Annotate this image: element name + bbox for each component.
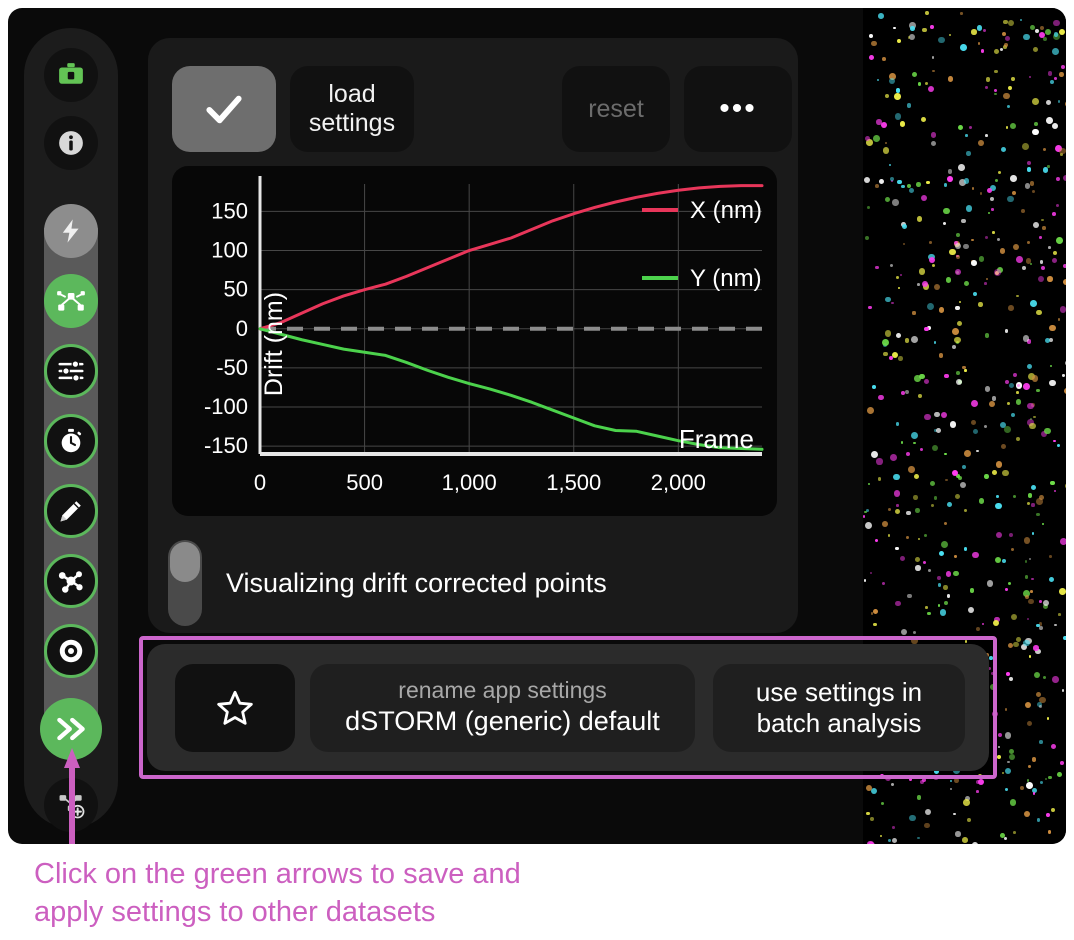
localization-point — [981, 49, 984, 52]
localization-point — [1051, 808, 1055, 812]
settings-panel-highlight — [139, 636, 997, 779]
localization-point — [894, 490, 900, 496]
localization-point — [985, 86, 988, 89]
localization-point — [1032, 129, 1038, 135]
localization-point — [1044, 428, 1051, 435]
localization-point — [870, 572, 872, 574]
localization-point — [882, 582, 885, 585]
localization-point — [961, 219, 966, 224]
localization-point — [1016, 295, 1019, 298]
localization-point — [883, 352, 888, 357]
chart-axes — [260, 176, 762, 454]
localization-point — [868, 306, 872, 310]
localization-point — [897, 180, 902, 185]
localization-point — [873, 623, 876, 626]
chart-x-tick-labels: 05001,0001,5002,000 — [254, 470, 706, 495]
localization-point — [1005, 329, 1008, 332]
localization-point — [968, 607, 974, 613]
localization-point — [916, 182, 921, 187]
localization-point — [949, 249, 956, 256]
localization-point — [938, 583, 941, 586]
localization-point — [1027, 403, 1033, 409]
localization-point — [880, 835, 882, 837]
sidebar-item-stopwatch[interactable] — [44, 414, 98, 468]
localization-point — [952, 328, 959, 335]
localization-point — [978, 42, 980, 44]
localization-point — [881, 122, 887, 128]
localization-point — [1048, 246, 1051, 249]
localization-point — [864, 511, 867, 514]
localization-point — [1052, 212, 1056, 216]
sidebar — [24, 28, 118, 828]
localization-point — [972, 842, 978, 844]
localization-point — [1029, 655, 1032, 658]
localization-point — [1057, 444, 1060, 447]
localization-point — [931, 504, 934, 507]
localization-point — [934, 284, 940, 290]
localization-point — [912, 311, 915, 314]
localization-point — [996, 532, 1002, 538]
localization-point — [932, 70, 934, 72]
localization-point — [876, 119, 881, 124]
localization-point — [931, 132, 937, 138]
localization-point — [964, 450, 971, 457]
localization-point — [971, 29, 976, 34]
localization-point — [925, 11, 929, 15]
localization-point — [1007, 196, 1013, 202]
localization-point — [956, 371, 960, 375]
localization-point — [1013, 831, 1016, 834]
sliders-icon — [56, 356, 86, 386]
localization-point — [1026, 782, 1033, 789]
localization-point — [911, 432, 918, 439]
localization-point — [929, 241, 932, 244]
localization-point — [958, 164, 965, 171]
localization-point — [1016, 437, 1020, 441]
localization-point — [937, 576, 941, 580]
localization-point — [1032, 757, 1037, 762]
localization-point — [1049, 577, 1054, 582]
sidebar-item-toolbox[interactable] — [44, 48, 98, 102]
localization-point — [944, 522, 947, 525]
localization-point — [931, 141, 936, 146]
pointer-arrow-icon — [64, 748, 80, 844]
load-settings-button[interactable]: load settings — [290, 66, 414, 152]
localization-point — [964, 369, 966, 371]
localization-point — [1003, 93, 1010, 100]
donut-target-icon — [56, 636, 86, 666]
svg-text:150: 150 — [211, 198, 248, 223]
localization-point — [889, 164, 891, 166]
localization-point — [971, 260, 977, 266]
localization-point — [992, 470, 997, 475]
localization-point — [1025, 560, 1027, 562]
localization-point — [1025, 575, 1029, 579]
localization-point — [1047, 276, 1053, 282]
localization-point — [1008, 20, 1014, 26]
localization-point — [992, 231, 995, 234]
localization-point — [1010, 799, 1017, 806]
localization-point — [1008, 582, 1011, 585]
localization-point — [1030, 181, 1035, 186]
localization-point — [867, 407, 874, 414]
localization-point — [950, 421, 957, 428]
localization-point — [955, 269, 961, 275]
localization-point — [900, 556, 905, 561]
localization-point — [877, 79, 879, 81]
localization-point — [952, 345, 956, 349]
visualize-drift-toggle[interactable] — [168, 540, 202, 626]
localization-point — [1020, 786, 1024, 790]
localization-point — [989, 401, 995, 407]
localization-point — [929, 257, 935, 263]
localization-point — [960, 44, 967, 51]
localization-point — [1046, 100, 1051, 105]
localization-point — [896, 422, 899, 425]
localization-point — [1027, 241, 1030, 244]
localization-point — [970, 588, 974, 592]
localization-point — [885, 94, 889, 98]
localization-point — [888, 839, 891, 842]
localization-point — [1005, 588, 1008, 591]
localization-point — [994, 70, 997, 73]
localization-point — [936, 428, 941, 433]
localization-point — [1029, 76, 1031, 78]
localization-point — [925, 809, 932, 816]
localization-point — [1013, 373, 1017, 377]
localization-point — [920, 448, 923, 451]
localization-point — [921, 117, 926, 122]
localization-point — [985, 386, 990, 391]
localization-point — [1042, 226, 1046, 230]
localization-point — [1027, 161, 1031, 165]
card-toolbar: load settings reset ••• — [172, 66, 777, 152]
localization-point — [915, 557, 920, 562]
localization-point — [917, 795, 921, 799]
sidebar-item-network[interactable] — [44, 274, 98, 328]
localization-point — [932, 445, 938, 451]
localization-point — [1043, 148, 1046, 151]
reset-label: reset — [588, 95, 644, 124]
localization-point — [960, 12, 962, 14]
localization-point — [1035, 29, 1039, 33]
localization-point — [896, 504, 898, 506]
localization-point — [1023, 640, 1029, 646]
svg-text:0: 0 — [236, 316, 248, 341]
localization-point — [866, 785, 872, 791]
localization-point — [994, 49, 999, 54]
sidebar-item-pencil[interactable] — [44, 484, 98, 538]
localization-point — [1043, 600, 1049, 606]
svg-text:1,500: 1,500 — [546, 470, 601, 495]
localization-point — [976, 450, 979, 453]
localization-point — [945, 479, 948, 482]
localization-point — [924, 534, 928, 538]
svg-text:X (nm): X (nm) — [690, 197, 762, 224]
svg-text:50: 50 — [224, 277, 248, 302]
localization-point — [998, 733, 1002, 737]
localization-point — [956, 255, 960, 259]
chart-gridlines — [260, 184, 762, 454]
localization-point — [934, 341, 936, 343]
localization-point — [909, 815, 916, 822]
localization-point — [891, 783, 894, 786]
localization-point — [1024, 537, 1030, 543]
localization-point — [947, 502, 952, 507]
localization-point — [1027, 167, 1031, 171]
localization-point — [964, 509, 967, 512]
localization-point — [885, 197, 890, 202]
localization-point — [1027, 618, 1029, 620]
localization-point — [1031, 578, 1033, 580]
localization-point — [892, 838, 898, 844]
localization-point — [1049, 555, 1052, 558]
localization-point — [971, 239, 973, 241]
localization-point — [1045, 338, 1051, 344]
localization-point — [1011, 413, 1015, 417]
localization-point — [980, 192, 982, 194]
localization-point — [1063, 264, 1066, 268]
localization-point — [868, 483, 870, 485]
localization-point — [1056, 177, 1060, 181]
localization-point — [1001, 444, 1006, 449]
svg-text:Y (nm): Y (nm) — [690, 265, 762, 292]
localization-point — [1032, 532, 1034, 534]
localization-point — [895, 547, 898, 550]
localization-point — [1032, 190, 1035, 193]
localization-point — [885, 142, 887, 144]
localization-point — [930, 481, 935, 486]
localization-point — [919, 268, 925, 274]
localization-point — [1034, 672, 1040, 678]
more-options-button[interactable]: ••• — [684, 66, 792, 152]
localization-point — [1022, 143, 1029, 150]
localization-point — [1028, 493, 1033, 498]
confirm-button[interactable] — [172, 66, 276, 152]
localization-point — [1053, 20, 1060, 27]
localization-point — [939, 307, 945, 313]
localization-point — [1045, 778, 1048, 781]
localization-point — [888, 534, 891, 537]
localization-point — [875, 539, 879, 543]
localization-point — [906, 452, 910, 456]
localization-point — [932, 56, 934, 58]
localization-point — [888, 508, 891, 511]
localization-point — [1006, 126, 1009, 129]
localization-point — [889, 356, 893, 360]
localization-point — [1059, 588, 1066, 595]
localization-point — [1013, 495, 1017, 499]
sidebar-item-lightning[interactable] — [44, 204, 98, 258]
sidebar-item-info[interactable] — [44, 116, 98, 170]
localization-point — [1048, 776, 1051, 779]
localization-point — [1063, 636, 1066, 640]
localization-point — [1005, 788, 1008, 791]
chart-series-group — [260, 186, 762, 450]
localization-point — [1040, 26, 1044, 30]
localization-point — [1011, 614, 1018, 621]
localization-point — [879, 179, 884, 184]
localization-point — [958, 476, 962, 480]
localization-point — [1010, 123, 1016, 129]
localization-point — [1031, 503, 1034, 506]
localization-point — [976, 790, 979, 793]
localization-point — [985, 333, 989, 337]
localization-point — [917, 837, 920, 840]
localization-point — [978, 302, 982, 306]
localization-point — [1058, 613, 1061, 616]
chart-legend: X (nm)Y (nm) — [642, 197, 762, 292]
localization-point — [1002, 559, 1006, 563]
localization-point — [912, 72, 918, 78]
localization-point — [924, 823, 930, 829]
localization-point — [1050, 80, 1054, 84]
localization-point — [1054, 490, 1056, 492]
localization-point — [878, 395, 884, 401]
checkmark-icon — [202, 87, 246, 131]
localization-point — [1053, 440, 1056, 443]
localization-point — [881, 802, 884, 805]
drift-chart-panel[interactable]: 150100500-50-100-150 05001,0001,5002,000… — [172, 166, 777, 516]
localization-point — [1036, 310, 1042, 316]
localization-point — [1007, 761, 1009, 763]
localization-point — [978, 140, 984, 146]
localization-point — [924, 327, 928, 331]
localization-point — [1046, 117, 1053, 124]
localization-point — [1054, 624, 1057, 627]
localization-point — [894, 93, 901, 100]
localization-point — [1061, 65, 1065, 69]
localization-point — [864, 177, 870, 183]
localization-point — [906, 536, 909, 539]
localization-point — [1038, 276, 1044, 282]
localization-point — [905, 390, 909, 394]
localization-point — [1027, 502, 1030, 505]
localization-point — [939, 353, 944, 358]
localization-point — [950, 780, 952, 782]
localization-point — [1050, 365, 1052, 367]
localization-point — [919, 374, 924, 379]
localization-point — [1059, 29, 1065, 35]
localization-point — [1058, 100, 1061, 103]
localization-point — [1008, 305, 1014, 311]
localization-point — [1016, 399, 1022, 405]
localization-point — [1050, 481, 1054, 485]
caption: Click on the green arrows to save and ap… — [34, 855, 734, 932]
localization-point — [895, 601, 900, 606]
localization-point — [890, 454, 897, 461]
localization-point — [955, 243, 961, 249]
localization-point — [1028, 765, 1031, 768]
chart-x-axis-label: Frame — [679, 424, 754, 454]
localization-point — [994, 269, 1001, 276]
app-window: load settings reset ••• 150100500-50-100… — [8, 8, 1066, 844]
localization-point — [997, 755, 1001, 759]
double-chevron-right-icon — [53, 714, 89, 744]
localization-point — [938, 37, 944, 43]
localization-point — [1057, 772, 1062, 777]
node-network-icon — [55, 285, 87, 317]
sidebar-item-molecule[interactable] — [44, 554, 98, 608]
localization-point — [1005, 36, 1010, 41]
localization-point — [925, 82, 928, 85]
localization-point — [913, 495, 918, 500]
localization-point — [1005, 732, 1011, 738]
localization-point — [882, 521, 888, 527]
localization-point — [1064, 388, 1066, 394]
localization-point — [955, 494, 961, 500]
localization-point — [1040, 260, 1043, 263]
localization-point — [946, 571, 952, 577]
localization-point — [1056, 237, 1063, 244]
localization-point — [895, 113, 901, 119]
localization-point — [1063, 279, 1066, 285]
localization-point — [1065, 361, 1066, 365]
localization-point — [964, 178, 969, 183]
localization-point — [1045, 29, 1051, 35]
localization-point — [944, 601, 948, 605]
localization-point — [1012, 191, 1016, 195]
localization-point — [1062, 689, 1065, 692]
chart-y-axis-label: Drift (nm) — [260, 292, 288, 396]
localization-point — [1048, 830, 1052, 834]
localization-point — [939, 551, 944, 556]
localization-point — [1025, 702, 1031, 708]
localization-point — [1037, 818, 1040, 821]
localization-point — [943, 222, 946, 225]
localization-point — [941, 541, 948, 548]
localization-point — [962, 837, 968, 843]
molecule-icon — [56, 566, 86, 596]
localization-point — [872, 385, 876, 389]
localization-point — [885, 330, 892, 337]
localization-point — [1041, 219, 1044, 222]
visualize-toggle-row: Visualizing drift corrected points — [168, 538, 768, 628]
sidebar-item-sliders[interactable] — [44, 344, 98, 398]
localization-point — [976, 627, 980, 631]
localization-point — [979, 498, 985, 504]
svg-text:-100: -100 — [204, 394, 248, 419]
sidebar-item-drift-correction[interactable] — [44, 624, 98, 678]
localization-point — [1000, 422, 1006, 428]
localization-point — [995, 503, 1001, 509]
localization-point — [864, 579, 867, 582]
localization-point — [984, 282, 987, 285]
localization-point — [1020, 19, 1022, 21]
localization-point — [911, 336, 918, 343]
localization-point — [943, 585, 948, 590]
localization-point — [908, 466, 915, 473]
localization-point — [1041, 266, 1045, 270]
localization-point — [947, 594, 950, 597]
localization-point — [995, 557, 1001, 563]
localization-point — [1011, 548, 1014, 551]
localization-point — [866, 812, 870, 816]
load-settings-line2: settings — [309, 109, 395, 138]
localization-point — [1004, 43, 1008, 47]
localization-point — [944, 183, 947, 186]
localization-point — [900, 274, 902, 276]
localization-point — [1009, 383, 1015, 389]
localization-point — [913, 442, 916, 445]
localization-point — [985, 134, 988, 137]
localization-point — [997, 238, 1000, 241]
localization-point — [1033, 645, 1038, 650]
localization-point — [948, 169, 953, 174]
localization-point — [907, 103, 911, 107]
reset-button[interactable]: reset — [562, 66, 670, 152]
localization-point — [991, 208, 993, 210]
